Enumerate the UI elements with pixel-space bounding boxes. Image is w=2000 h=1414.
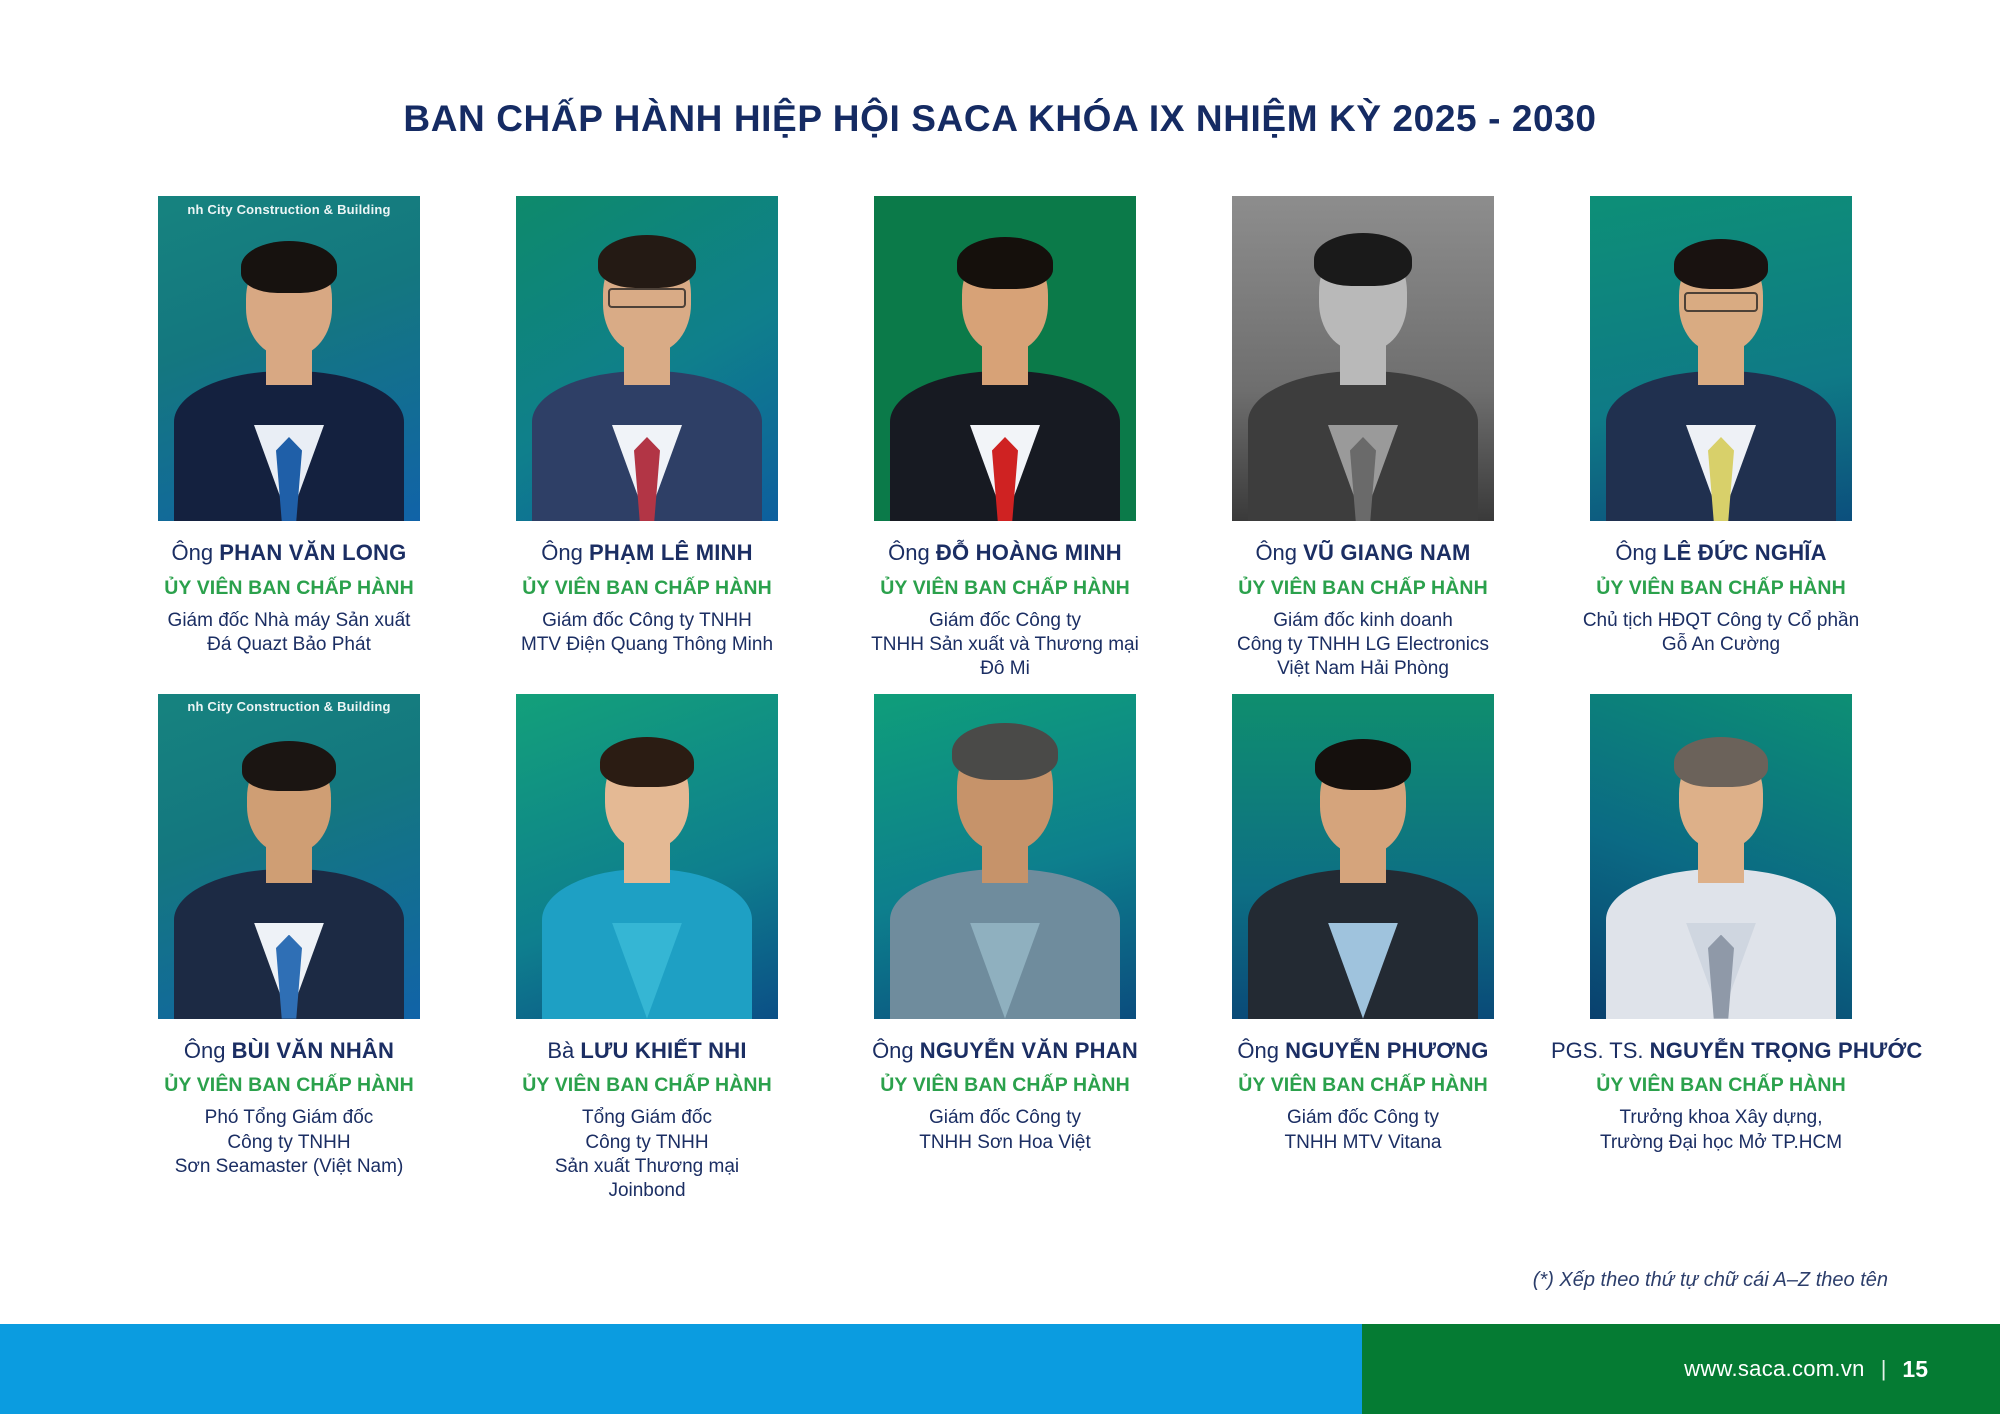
- member-description: Giám đốc Công tyTNHH Sản xuất và Thương …: [835, 609, 1175, 682]
- member-name-prefix: Bà: [547, 1038, 574, 1063]
- member-name-text: NGUYỄN VĂN PHAN: [920, 1038, 1138, 1063]
- figure-hair: [242, 741, 336, 791]
- member-caption: PGS. TS. NGUYỄN TRỌNG PHƯỚCỦY VIÊN BAN C…: [1551, 1039, 1891, 1155]
- member-role: ỦY VIÊN BAN CHẤP HÀNH: [477, 1074, 817, 1097]
- portrait-image: [874, 196, 1136, 521]
- member-card: Ông VŨ GIANG NAMỦY VIÊN BAN CHẤP HÀNHGiá…: [1184, 196, 1542, 682]
- member-description: Trưởng khoa Xây dựng,Trường Đại học Mở T…: [1551, 1106, 1891, 1155]
- portrait-image: [1232, 694, 1494, 1019]
- portrait-figure: [516, 196, 778, 521]
- portrait-figure: [158, 694, 420, 1019]
- figure-glasses: [608, 288, 686, 308]
- member-description: Giám đốc Công ty TNHHMTV Điện Quang Thôn…: [477, 609, 817, 658]
- member-name: Bà LƯU KHIẾT NHI: [477, 1039, 817, 1064]
- member-photo: [1232, 196, 1494, 521]
- member-description-line: Giám đốc Nhà máy Sản xuất: [119, 609, 459, 633]
- member-name-text: VŨ GIANG NAM: [1303, 540, 1470, 565]
- member-description-line: Trường Đại học Mở TP.HCM: [1551, 1131, 1891, 1155]
- member-caption: Bà LƯU KHIẾT NHIỦY VIÊN BAN CHẤP HÀNHTổn…: [477, 1039, 817, 1204]
- member-name-prefix: Ông: [184, 1038, 226, 1063]
- member-name-prefix: Ông: [541, 540, 583, 565]
- member-card: Bà LƯU KHIẾT NHIỦY VIÊN BAN CHẤP HÀNHTổn…: [468, 694, 826, 1204]
- sort-order-footnote: (*) Xếp theo thứ tự chữ cái A–Z theo tên: [1533, 1269, 1888, 1292]
- member-description-line: Chủ tịch HĐQT Công ty Cổ phần: [1551, 609, 1891, 633]
- member-description: Giám đốc kinh doanhCông ty TNHH LG Elect…: [1193, 609, 1533, 682]
- portrait-figure: [1590, 694, 1852, 1019]
- figure-hair: [598, 235, 696, 288]
- member-photo: [516, 694, 778, 1019]
- footer-page-number: 15: [1902, 1356, 1928, 1383]
- member-description-line: Công ty TNHH LG Electronics: [1193, 633, 1533, 657]
- portrait-figure: [874, 694, 1136, 1019]
- figure-hair: [1674, 737, 1768, 787]
- member-caption: Ông ĐỖ HOÀNG MINHỦY VIÊN BAN CHẤP HÀNHGi…: [835, 541, 1175, 682]
- member-name: Ông PHẠM LÊ MINH: [477, 541, 817, 566]
- member-photo: nh City Construction & Building: [158, 196, 420, 521]
- member-description-line: Phó Tổng Giám đốc: [119, 1106, 459, 1130]
- member-photo: [874, 694, 1136, 1019]
- member-caption: Ông BÙI VĂN NHÂNỦY VIÊN BAN CHẤP HÀNHPhó…: [119, 1039, 459, 1180]
- member-row-1: nh City Construction & BuildingÔng PHAN …: [110, 196, 1900, 682]
- member-description-line: TNHH Sản xuất và Thương mại: [835, 633, 1175, 657]
- member-card: Ông PHẠM LÊ MINHỦY VIÊN BAN CHẤP HÀNHGiá…: [468, 196, 826, 682]
- member-name-text: BÙI VĂN NHÂN: [232, 1038, 395, 1063]
- page-footer: www.saca.com.vn | 15: [0, 1324, 2000, 1414]
- member-card: nh City Construction & BuildingÔng BÙI V…: [110, 694, 468, 1204]
- member-name-prefix: Ông: [1237, 1038, 1279, 1063]
- member-photo: [1590, 694, 1852, 1019]
- member-caption: Ông NGUYỄN VĂN PHANỦY VIÊN BAN CHẤP HÀNH…: [835, 1039, 1175, 1155]
- figure-neck: [1340, 345, 1386, 385]
- portrait-image: [1232, 196, 1494, 521]
- member-card: PGS. TS. NGUYỄN TRỌNG PHƯỚCỦY VIÊN BAN C…: [1542, 694, 1900, 1204]
- page-title: BAN CHẤP HÀNH HIỆP HỘI SACA KHÓA IX NHIỆ…: [0, 98, 2000, 140]
- member-name: Ông ĐỖ HOÀNG MINH: [835, 541, 1175, 566]
- member-name-text: NGUYỄN TRỌNG PHƯỚC: [1650, 1038, 1923, 1063]
- member-name: PGS. TS. NGUYỄN TRỌNG PHƯỚC: [1551, 1039, 1891, 1064]
- member-description-line: Gỗ An Cường: [1551, 633, 1891, 657]
- member-name-prefix: PGS. TS.: [1551, 1038, 1644, 1063]
- member-caption: Ông PHẠM LÊ MINHỦY VIÊN BAN CHẤP HÀNHGiá…: [477, 541, 817, 657]
- member-description-line: Trưởng khoa Xây dựng,: [1551, 1106, 1891, 1130]
- member-name: Ông NGUYỄN PHƯƠNG: [1193, 1039, 1533, 1064]
- member-description-line: TNHH Sơn Hoa Việt: [835, 1131, 1175, 1155]
- member-description-line: Joinbond: [477, 1179, 817, 1203]
- member-description-line: TNHH MTV Vitana: [1193, 1131, 1533, 1155]
- member-caption: Ông VŨ GIANG NAMỦY VIÊN BAN CHẤP HÀNHGiá…: [1193, 541, 1533, 682]
- member-caption: Ông PHAN VĂN LONGỦY VIÊN BAN CHẤP HÀNHGi…: [119, 541, 459, 657]
- figure-hair: [1674, 239, 1768, 289]
- brochure-page: BAN CHẤP HÀNH HIỆP HỘI SACA KHÓA IX NHIỆ…: [0, 0, 2000, 1414]
- member-role: ỦY VIÊN BAN CHẤP HÀNH: [1551, 577, 1891, 600]
- member-name-prefix: Ông: [172, 540, 214, 565]
- member-description-line: Công ty TNHH: [477, 1131, 817, 1155]
- portrait-image: [874, 694, 1136, 1019]
- member-card: nh City Construction & BuildingÔng PHAN …: [110, 196, 468, 682]
- member-name-text: PHẠM LÊ MINH: [589, 540, 753, 565]
- member-description: Giám đốc Công tyTNHH Sơn Hoa Việt: [835, 1106, 1175, 1155]
- portrait-image: [1590, 694, 1852, 1019]
- member-card: Ông NGUYỄN VĂN PHANỦY VIÊN BAN CHẤP HÀNH…: [826, 694, 1184, 1204]
- member-card: Ông ĐỖ HOÀNG MINHỦY VIÊN BAN CHẤP HÀNHGi…: [826, 196, 1184, 682]
- figure-hair: [957, 237, 1053, 289]
- portrait-image: [516, 196, 778, 521]
- member-photo: [874, 196, 1136, 521]
- portrait-image: [516, 694, 778, 1019]
- member-name: Ông PHAN VĂN LONG: [119, 541, 459, 566]
- portrait-image: nh City Construction & Building: [158, 196, 420, 521]
- member-name-prefix: Ông: [1255, 540, 1297, 565]
- member-description-line: Giám đốc kinh doanh: [1193, 609, 1533, 633]
- portrait-image: [1590, 196, 1852, 521]
- member-description-line: Giám đốc Công ty: [835, 609, 1175, 633]
- member-role: ỦY VIÊN BAN CHẤP HÀNH: [119, 1074, 459, 1097]
- member-name-prefix: Ông: [872, 1038, 914, 1063]
- member-description-line: Đô Mi: [835, 657, 1175, 681]
- figure-hair: [241, 241, 337, 293]
- member-description: Chủ tịch HĐQT Công ty Cổ phầnGỗ An Cường: [1551, 609, 1891, 658]
- figure-glasses: [1684, 292, 1758, 312]
- member-description-line: Đá Quazt Bảo Phát: [119, 633, 459, 657]
- member-description-line: Việt Nam Hải Phòng: [1193, 657, 1533, 681]
- member-name-text: NGUYỄN PHƯƠNG: [1285, 1038, 1488, 1063]
- member-name-text: ĐỖ HOÀNG MINH: [936, 540, 1122, 565]
- member-description: Phó Tổng Giám đốcCông ty TNHHSơn Seamast…: [119, 1106, 459, 1179]
- member-role: ỦY VIÊN BAN CHẤP HÀNH: [835, 577, 1175, 600]
- member-description: Giám đốc Công tyTNHH MTV Vitana: [1193, 1106, 1533, 1155]
- footer-green-band: www.saca.com.vn | 15: [1362, 1324, 2000, 1414]
- member-caption: Ông NGUYỄN PHƯƠNGỦY VIÊN BAN CHẤP HÀNHGi…: [1193, 1039, 1533, 1155]
- footer-blue-band: [0, 1324, 1362, 1414]
- member-description-line: Sản xuất Thương mại: [477, 1155, 817, 1179]
- figure-hair: [1314, 233, 1412, 286]
- portrait-figure: [1232, 694, 1494, 1019]
- portrait-figure: [1232, 196, 1494, 521]
- member-description-line: MTV Điện Quang Thông Minh: [477, 633, 817, 657]
- footer-separator: |: [1881, 1356, 1887, 1382]
- member-photo: [1232, 694, 1494, 1019]
- portrait-figure: [1590, 196, 1852, 521]
- figure-hair: [952, 723, 1058, 781]
- member-description: Tổng Giám đốcCông ty TNHHSản xuất Thương…: [477, 1106, 817, 1203]
- member-description-line: Sơn Seamaster (Việt Nam): [119, 1155, 459, 1179]
- member-role: ỦY VIÊN BAN CHẤP HÀNH: [119, 577, 459, 600]
- member-description-line: Giám đốc Công ty: [1193, 1106, 1533, 1130]
- member-name-prefix: Ông: [1615, 540, 1657, 565]
- figure-hair: [600, 737, 694, 787]
- member-role: ỦY VIÊN BAN CHẤP HÀNH: [1551, 1074, 1891, 1097]
- member-role: ỦY VIÊN BAN CHẤP HÀNH: [477, 577, 817, 600]
- member-role: ỦY VIÊN BAN CHẤP HÀNH: [1193, 577, 1533, 600]
- member-name-text: PHAN VĂN LONG: [219, 540, 406, 565]
- footer-website-url[interactable]: www.saca.com.vn: [1684, 1356, 1865, 1382]
- portrait-image: nh City Construction & Building: [158, 694, 420, 1019]
- member-caption: Ông LÊ ĐỨC NGHĨAỦY VIÊN BAN CHẤP HÀNHChủ…: [1551, 541, 1891, 657]
- member-description-line: Công ty TNHH: [119, 1131, 459, 1155]
- member-card: Ông LÊ ĐỨC NGHĨAỦY VIÊN BAN CHẤP HÀNHChủ…: [1542, 196, 1900, 682]
- member-description: Giám đốc Nhà máy Sản xuấtĐá Quazt Bảo Ph…: [119, 609, 459, 658]
- member-role: ỦY VIÊN BAN CHẤP HÀNH: [835, 1074, 1175, 1097]
- member-grid: nh City Construction & BuildingÔng PHAN …: [110, 196, 1900, 1203]
- member-name-text: LÊ ĐỨC NGHĨA: [1663, 540, 1827, 565]
- member-name-text: LƯU KHIẾT NHI: [580, 1038, 746, 1063]
- member-name: Ông NGUYỄN VĂN PHAN: [835, 1039, 1175, 1064]
- member-role: ỦY VIÊN BAN CHẤP HÀNH: [1193, 1074, 1533, 1097]
- portrait-figure: [158, 196, 420, 521]
- figure-hair: [1315, 739, 1411, 791]
- member-photo: [516, 196, 778, 521]
- member-description-line: Tổng Giám đốc: [477, 1106, 817, 1130]
- member-name: Ông VŨ GIANG NAM: [1193, 541, 1533, 566]
- member-card: Ông NGUYỄN PHƯƠNGỦY VIÊN BAN CHẤP HÀNHGi…: [1184, 694, 1542, 1204]
- member-name-prefix: Ông: [888, 540, 930, 565]
- portrait-figure: [516, 694, 778, 1019]
- member-row-2: nh City Construction & BuildingÔng BÙI V…: [110, 694, 1900, 1204]
- member-description-line: Giám đốc Công ty: [835, 1106, 1175, 1130]
- portrait-figure: [874, 196, 1136, 521]
- member-photo: [1590, 196, 1852, 521]
- member-description-line: Giám đốc Công ty TNHH: [477, 609, 817, 633]
- member-name: Ông BÙI VĂN NHÂN: [119, 1039, 459, 1064]
- member-photo: nh City Construction & Building: [158, 694, 420, 1019]
- member-name: Ông LÊ ĐỨC NGHĨA: [1551, 541, 1891, 566]
